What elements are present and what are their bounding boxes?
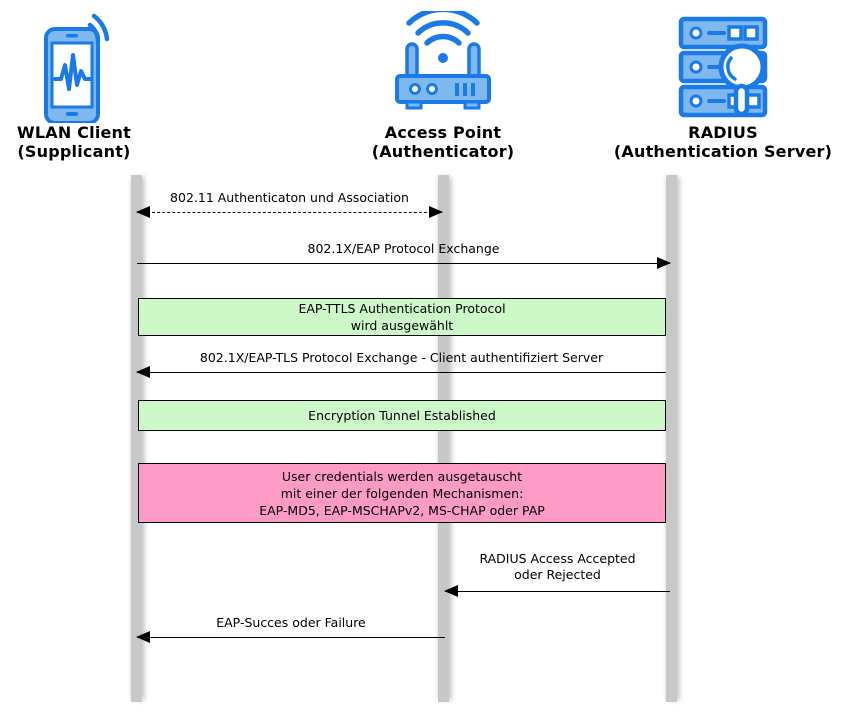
message-line	[445, 591, 670, 592]
note-encryption-tunnel: Encryption Tunnel Established	[138, 400, 666, 431]
arrowhead-left-icon	[136, 631, 150, 643]
arrowhead-right-icon	[429, 206, 443, 218]
arrowhead-right-icon	[657, 257, 671, 269]
arrowhead-left-icon	[136, 206, 150, 218]
actor-label-access-point: Access Point (Authenticator)	[348, 123, 538, 161]
message-label: 802.1X/EAP Protocol Exchange	[137, 241, 670, 257]
message-label: RADIUS Access Accepted oder Rejected	[445, 551, 670, 583]
message-label: 802.11 Authenticaton und Association	[137, 190, 442, 206]
wireless-router-icon	[348, 8, 538, 123]
message-label: EAP-Succes oder Failure	[137, 615, 445, 631]
message-line	[137, 637, 445, 638]
actor-radius-server: RADIUS (Authentication Server)	[598, 8, 848, 161]
arrowhead-left-icon	[136, 366, 150, 378]
actor-access-point: Access Point (Authenticator)	[348, 8, 538, 161]
actor-label-wlan-client: WLAN Client (Supplicant)	[0, 123, 148, 161]
arrowhead-left-icon	[444, 585, 458, 597]
actor-wlan-client: WLAN Client (Supplicant)	[0, 8, 148, 161]
message-line	[137, 263, 670, 264]
actor-label-radius: RADIUS (Authentication Server)	[598, 123, 848, 161]
sequence-diagram-canvas: WLAN Client (Supplicant)	[0, 0, 848, 716]
message-label: 802.1X/EAP-TLS Protocol Exchange - Clien…	[137, 350, 666, 366]
message-line	[137, 372, 666, 373]
note-eap-ttls-selected: EAP-TTLS Authentication Protocol wird au…	[138, 298, 666, 336]
server-search-icon	[598, 8, 848, 123]
message-line	[137, 212, 442, 213]
smartphone-wifi-icon	[0, 8, 148, 123]
note-user-credentials-exchange: User credentials werden ausgetauscht mit…	[138, 463, 666, 523]
